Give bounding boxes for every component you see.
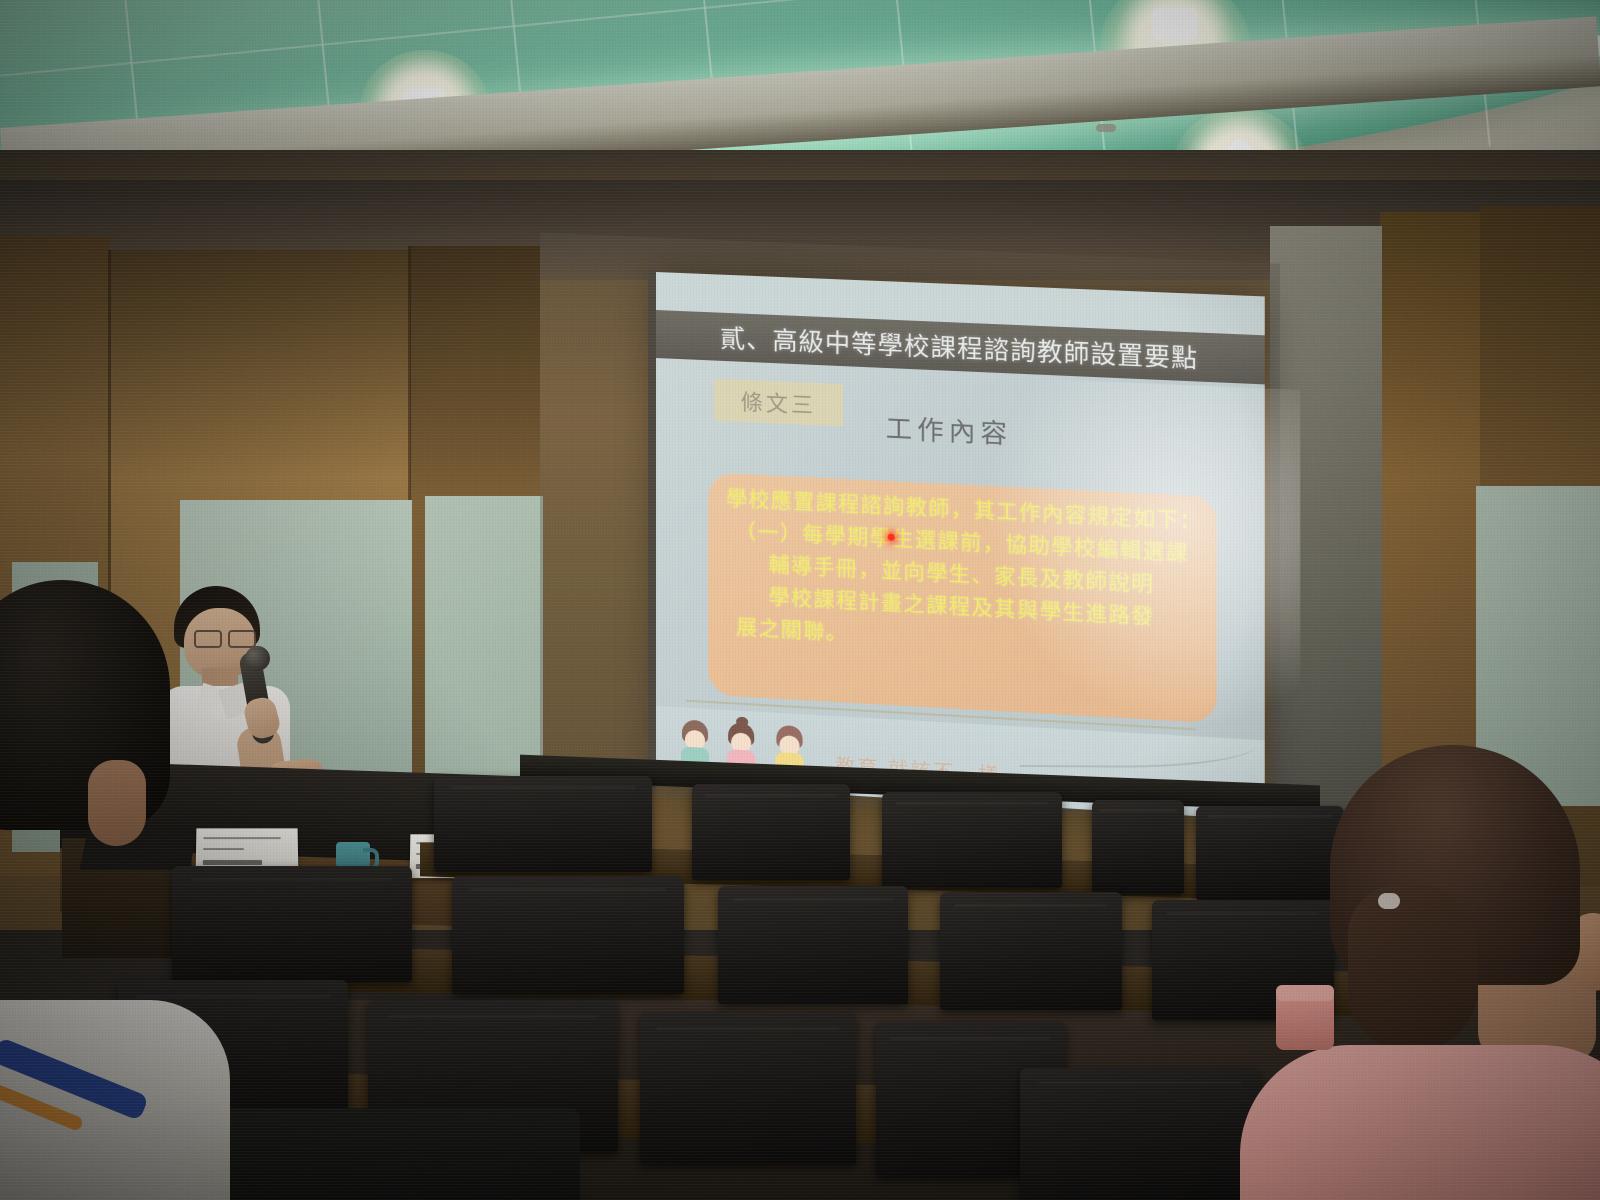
chair-r3-c5	[1020, 1068, 1260, 1200]
chair-r2-c4	[940, 892, 1122, 1010]
chair-r2-c2	[452, 876, 684, 994]
pink-tumbler-lid	[1276, 985, 1334, 1001]
chair-r1-c1	[434, 776, 652, 872]
chair-r1-c3	[882, 792, 1062, 888]
slide-article-tag: 條文三	[714, 379, 843, 427]
laser-pointer-dot	[888, 533, 895, 540]
chair-r2-c3	[718, 886, 908, 1004]
slide-article-tag-label: 條文三	[741, 385, 817, 421]
auditorium-photo: 貳、高級中等學校課程諮詢教師設置要點 條文三 工作內容 學校應置課程諮詢教師，其…	[0, 0, 1600, 1200]
projection-screen: 貳、高級中等學校課程諮詢教師設置要點 條文三 工作內容 學校應置課程諮詢教師，其…	[656, 272, 1265, 820]
screen-surface: 貳、高級中等學校課程諮詢教師設置要點 條文三 工作內容 學校應置課程諮詢教師，其…	[656, 272, 1265, 820]
hair-tie-icon	[1378, 893, 1400, 909]
attendee-right-pink-top	[1240, 1045, 1600, 1200]
slide-section-heading: 工作內容	[886, 408, 1013, 451]
slide-content-box: 學校應置課程諮詢教師，其工作內容規定如下： （一）每學期學生選課前，協助學校編輯…	[708, 472, 1217, 723]
screen-left-rail	[648, 268, 656, 788]
footer-swoosh-line	[1018, 728, 1258, 768]
chair-r3-c3	[640, 1012, 856, 1164]
foreground-left-attendee	[0, 580, 220, 1200]
sprinkler-head-right	[1096, 124, 1116, 132]
chair-r1-c2	[692, 784, 850, 880]
chair-r1-c4	[1092, 800, 1184, 894]
attendee-left-ear	[88, 760, 146, 846]
foreground-right-attendee	[1310, 745, 1600, 1200]
chair-foreground-left	[180, 1108, 580, 1200]
slide-body: 條文三 工作內容 學校應置課程諮詢教師，其工作內容規定如下： （一）每學期學生選…	[656, 358, 1265, 820]
downlight-ceiling-right-core	[1152, 8, 1198, 40]
attendee-right-ponytail	[1348, 885, 1478, 1050]
